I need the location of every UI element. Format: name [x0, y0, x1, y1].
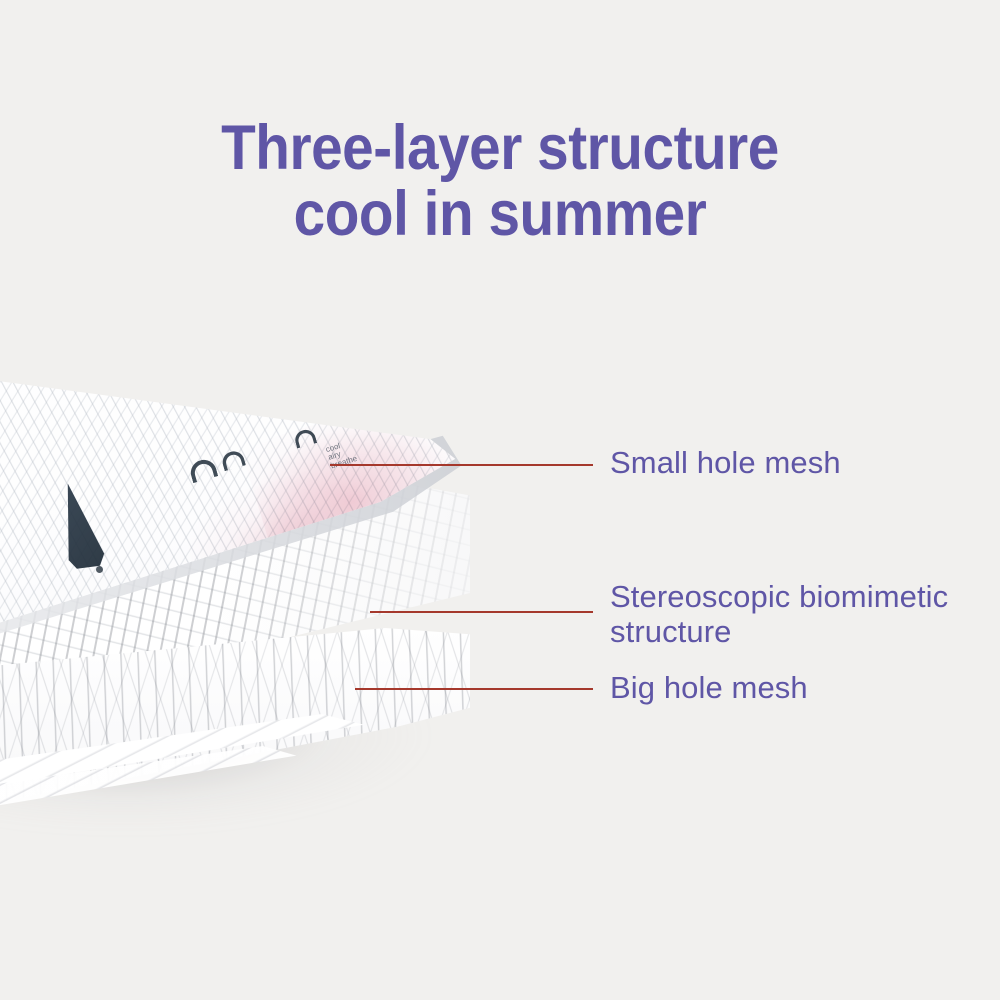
product-image: cool airy breathe soft mesh	[0, 350, 600, 910]
printed-tree-motif	[45, 477, 113, 574]
leader-line-stereoscopic-structure	[370, 611, 593, 613]
printed-dot-motif	[96, 566, 103, 573]
callout-label-small-hole-mesh: Small hole mesh	[610, 446, 841, 481]
leader-line-big-hole-mesh	[355, 688, 593, 690]
callout-label-stereoscopic-biomimetic-structure: Stereoscopic biomimetic structure	[610, 580, 948, 649]
infographic-canvas: Three-layer structure cool in summer coo…	[0, 0, 1000, 1000]
title-line-1: Three-layer structure	[50, 118, 950, 180]
page-title: Three-layer structure cool in summer	[0, 118, 1000, 245]
callout-label-big-hole-mesh: Big hole mesh	[610, 671, 808, 706]
leader-line-small-hole-mesh	[330, 464, 593, 466]
printed-arch-motif-1	[188, 457, 219, 483]
title-line-2: cool in summer	[50, 184, 950, 246]
printed-micro-text-2: soft mesh	[364, 414, 385, 433]
